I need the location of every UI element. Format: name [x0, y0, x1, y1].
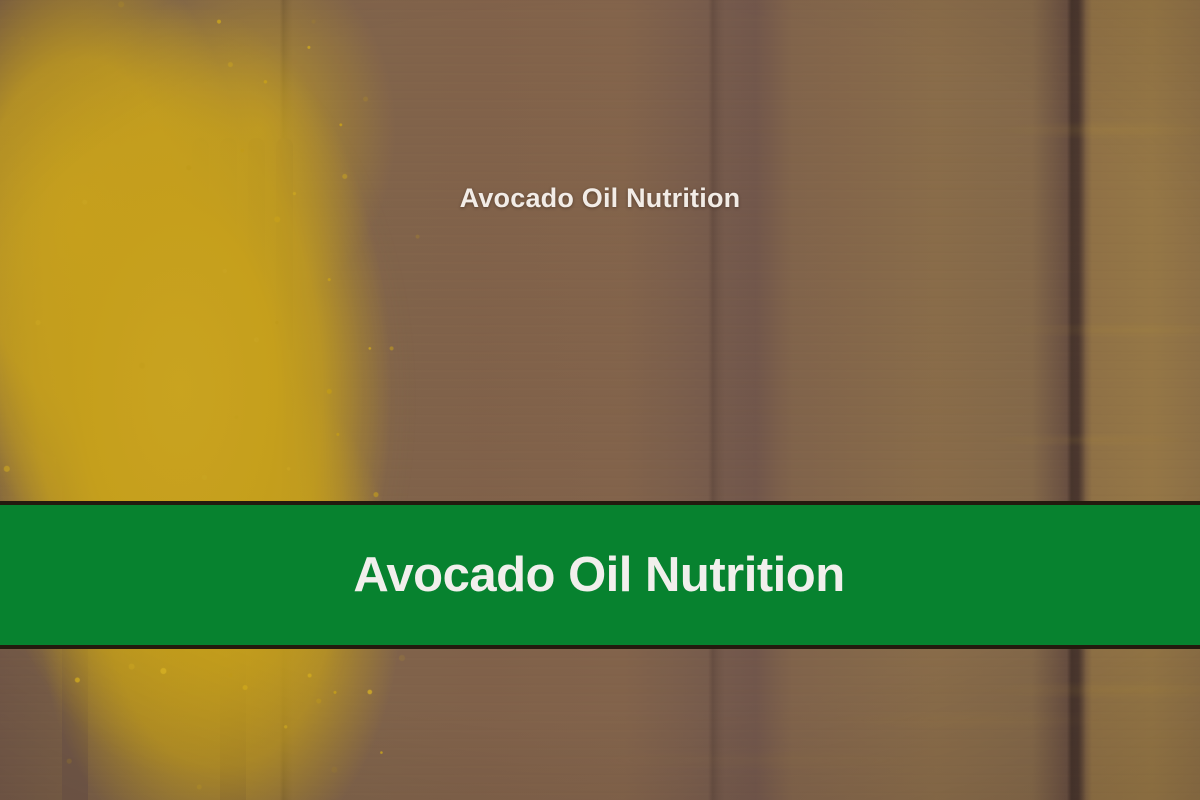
featured-image-canvas: Avocado Oil Nutrition Avocado Oil Nutrit… — [0, 0, 1200, 800]
overlay-title: Avocado Oil Nutrition — [0, 183, 1200, 214]
title-banner: Avocado Oil Nutrition — [0, 501, 1200, 649]
powder-dust-specks — [0, 650, 430, 800]
banner-title-text: Avocado Oil Nutrition — [353, 547, 844, 603]
